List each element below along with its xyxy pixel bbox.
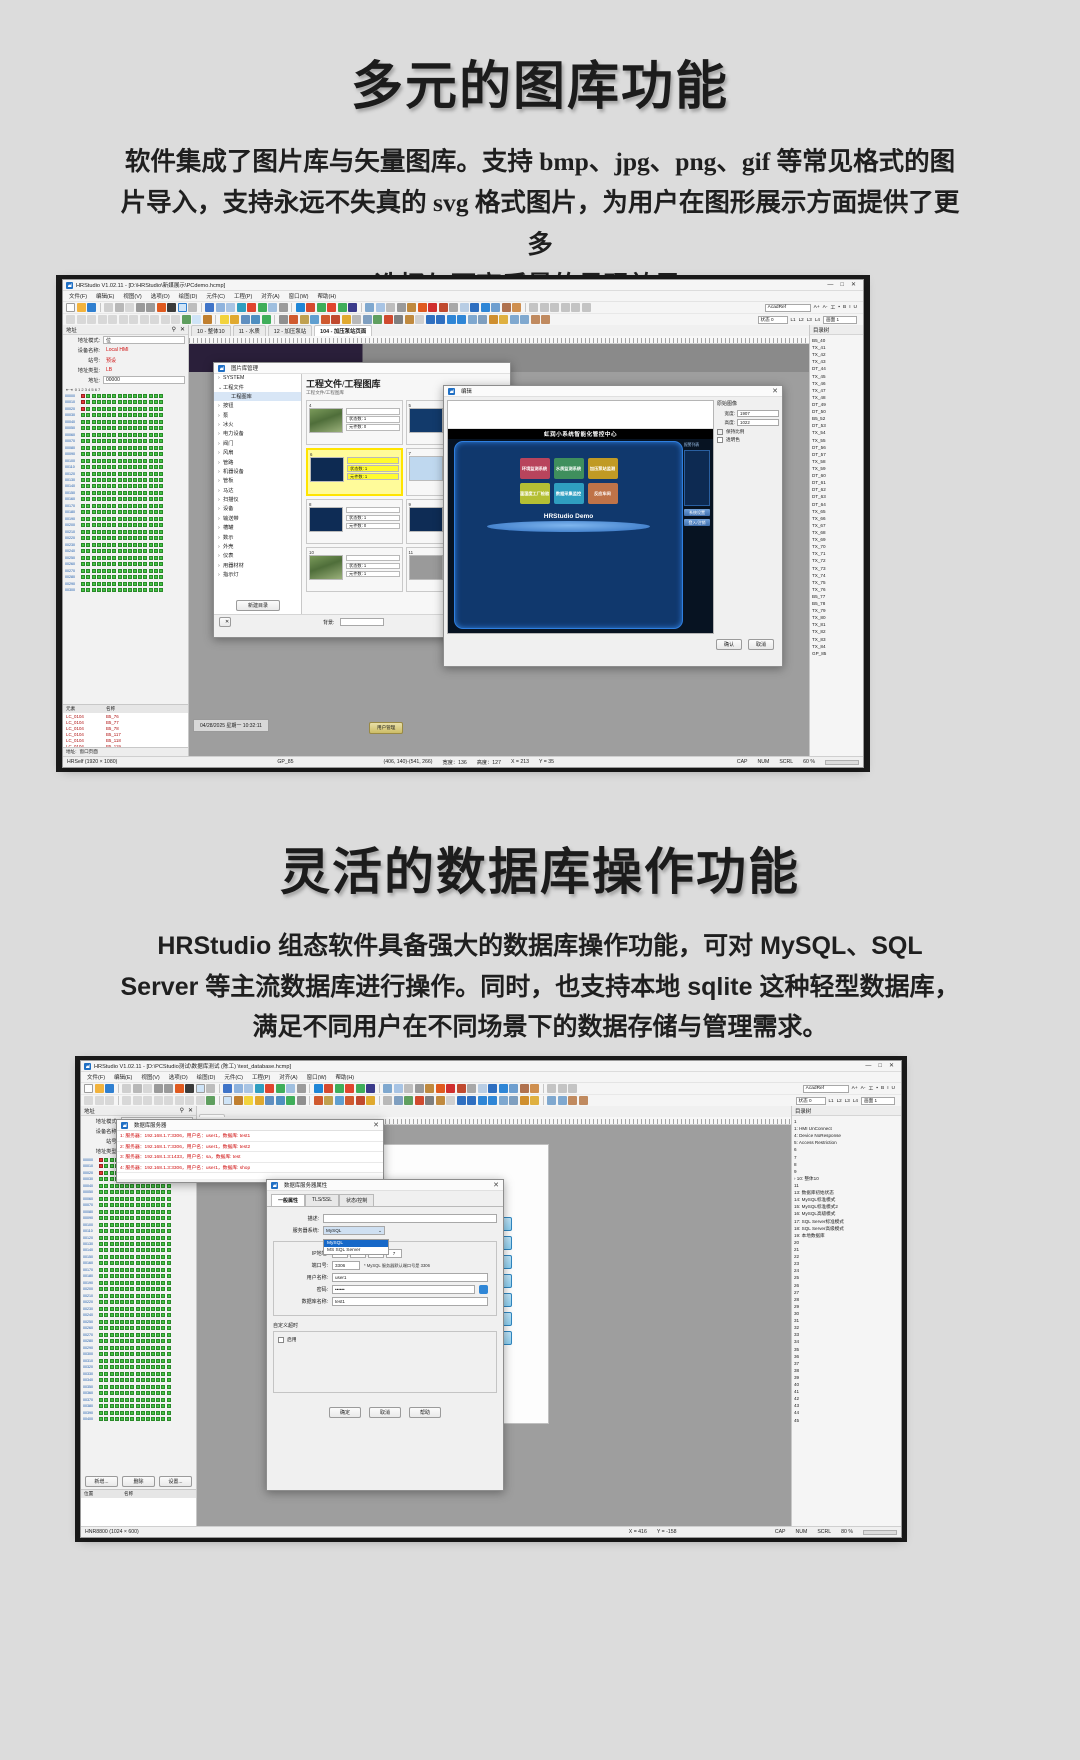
address-bit[interactable] [110,1281,114,1285]
rect-icon[interactable] [140,315,149,324]
address-bit[interactable] [161,1365,165,1369]
address-bit[interactable] [99,1287,103,1291]
element-table[interactable]: LC_0104B5_76LC_0104B5_77LC_0104B5_78LC_0… [63,713,188,747]
address-bit[interactable] [159,517,163,521]
address-row[interactable]: 00280 [65,575,186,580]
app2-object-tree-item[interactable]: 14: MySQL标准模式 [794,1196,899,1203]
address-bit[interactable] [120,1307,124,1311]
address-bit[interactable] [110,1294,114,1298]
address-bit[interactable] [156,1359,160,1363]
edit-note-icon[interactable] [258,303,267,312]
address-bit[interactable] [104,1411,108,1415]
address-bit[interactable] [118,582,122,586]
address-bit[interactable] [125,1210,129,1214]
address-bit[interactable] [125,1236,129,1240]
address-bit[interactable] [99,1216,103,1220]
address-bit[interactable] [146,1307,150,1311]
address-bit[interactable] [141,1359,145,1363]
address-row[interactable]: 00070 [65,438,186,443]
address-bit[interactable] [161,1268,165,1272]
screen-tab-0[interactable]: 10 - 整体10 [191,325,231,336]
toolbar-icon-44[interactable] [579,1096,588,1105]
address-bit[interactable] [102,588,106,592]
address-bit[interactable] [151,1203,155,1207]
address-bit[interactable] [138,472,142,476]
menu-help[interactable]: 帮助(H) [318,292,337,300]
toolbar-icon-31[interactable] [436,1096,445,1105]
app2-object-tree-list[interactable]: 11: HMI UnConnect4: Device NoResponse5: … [792,1116,901,1426]
address-bit[interactable] [159,523,163,527]
address-bit[interactable] [92,439,96,443]
library-tree-item[interactable]: 工程图库 [214,392,301,401]
address-bit[interactable] [143,394,147,398]
address-bit[interactable] [141,1365,145,1369]
address-bit[interactable] [143,413,147,417]
address-bit[interactable] [123,504,127,508]
app2-font-increase-button[interactable]: A+ [852,1086,858,1091]
address-bit[interactable] [143,472,147,476]
address-bit[interactable] [120,1274,124,1278]
ascii-icon[interactable] [251,315,260,324]
address-bit[interactable] [130,1190,134,1194]
address-bit[interactable] [136,1339,140,1343]
address-bit[interactable] [97,452,101,456]
address-row[interactable]: 00000 [65,393,186,398]
address-bit[interactable] [97,497,101,501]
address-bit[interactable] [125,1365,129,1369]
address-bit[interactable] [86,426,90,430]
address-bit[interactable] [149,543,153,547]
address-bit[interactable] [97,465,101,469]
address-bit[interactable] [154,523,158,527]
address-bit[interactable] [130,1359,134,1363]
library-tree-item[interactable]: ›用器材材 [214,561,301,570]
address-bit[interactable] [107,465,111,469]
address-bit[interactable] [86,439,90,443]
address-bit[interactable] [161,1274,165,1278]
address-bit[interactable] [133,588,137,592]
address-bit[interactable] [141,1210,145,1214]
address-bit[interactable] [99,1365,103,1369]
address-bit[interactable] [161,1261,165,1265]
address-row[interactable]: 00040 [65,419,186,424]
address-bit[interactable] [92,523,96,527]
address-bit[interactable] [133,420,137,424]
menu-file[interactable]: 文件(F) [69,292,87,300]
library-tree-item[interactable]: ›电力设备 [214,429,301,438]
panel-close-icon[interactable]: ✕ [180,326,185,333]
library-card[interactable]: 4状态数: 1元件数: 0 [306,400,403,445]
address-bit[interactable] [130,1313,134,1317]
address-bit[interactable] [112,426,116,430]
db-props-tabs[interactable]: 一般属性 TLS/SSL 状态/控制 [267,1194,503,1207]
address-bit[interactable] [110,1333,114,1337]
address-row[interactable]: 00060 [65,432,186,437]
address-bit[interactable] [156,1242,160,1246]
object-tree-item[interactable]: TX_81 [812,621,861,628]
address-bit[interactable] [81,420,85,424]
address-bit[interactable] [136,1287,140,1291]
address-bit[interactable] [99,1177,103,1181]
toolbar-icon-10[interactable] [196,1084,205,1093]
address-bit[interactable] [136,1417,140,1421]
address-bit[interactable] [104,1326,108,1330]
address-bit[interactable] [125,1229,129,1233]
address-bit[interactable] [120,1333,124,1337]
toolbar-icon-10[interactable] [196,1096,205,1105]
address-bit[interactable] [123,543,127,547]
address-bit[interactable] [123,472,127,476]
address-bit[interactable] [138,465,142,469]
address-bit[interactable] [159,556,163,560]
address-bit[interactable] [146,1411,150,1415]
address-bit[interactable] [146,1210,150,1214]
address-bit[interactable] [99,1210,103,1214]
address-bit[interactable] [99,1281,103,1285]
library-card-thumbnail[interactable] [309,507,343,532]
address-bit[interactable] [159,407,163,411]
address-bit[interactable] [92,497,96,501]
address-bit[interactable] [167,1385,171,1389]
address-bit[interactable] [86,562,90,566]
address-bit[interactable] [161,1203,165,1207]
address-bit[interactable] [92,465,96,469]
app2-object-tree-item[interactable]: 8 [794,1161,899,1168]
address-bit[interactable] [115,1197,119,1201]
address-bit[interactable] [167,1287,171,1291]
toolbar-icon-12[interactable] [223,1096,232,1105]
address-bit[interactable] [136,1184,140,1188]
copy2-icon[interactable] [510,315,519,324]
address-bit[interactable] [128,523,132,527]
address-bit[interactable] [161,1372,165,1376]
frame-icon[interactable] [192,315,201,324]
address-bit[interactable] [154,549,158,553]
address-bit[interactable] [149,394,153,398]
address-bit[interactable] [92,478,96,482]
toolbar-icon-38[interactable] [509,1084,518,1093]
find-icon[interactable] [167,303,176,312]
address-bit[interactable] [104,1359,108,1363]
address-bit[interactable] [156,1203,160,1207]
address-bit[interactable] [125,1320,129,1324]
address-bit[interactable] [167,1248,171,1252]
xy-icon[interactable] [373,315,382,324]
object-tree-item[interactable]: TX_72 [812,557,861,564]
address-bit[interactable] [159,465,163,469]
address-bit[interactable] [143,407,147,411]
layer-l2-button[interactable]: L2 [799,317,804,322]
address-bit[interactable] [130,1320,134,1324]
address-bit[interactable] [99,1320,103,1324]
app2-object-tree-item[interactable]: 21 [794,1246,899,1253]
address-bit[interactable] [156,1411,160,1415]
toolbar-icon-41[interactable] [547,1084,556,1093]
address-bit[interactable] [123,478,127,482]
address-row[interactable]: 00180 [83,1274,194,1279]
address-bit[interactable] [120,1248,124,1252]
library-card-name-input[interactable] [346,555,400,562]
address-bit[interactable] [110,1210,114,1214]
download-icon[interactable] [338,303,347,312]
address-bit[interactable] [118,497,122,501]
address-bit[interactable] [146,1352,150,1356]
address-bit[interactable] [110,1223,114,1227]
app2-menu-draw[interactable]: 绘图(D) [197,1073,216,1081]
library-tree-item[interactable]: ›风扇 [214,448,301,457]
address-bit[interactable] [141,1391,145,1395]
address-bit[interactable] [156,1333,160,1337]
list-icon[interactable] [310,315,319,324]
hmi-tile[interactable]: 数据采集监控 [554,483,584,504]
library-tree-item[interactable]: ›槽罐 [214,523,301,532]
address-bit[interactable] [102,556,106,560]
address-bit[interactable] [115,1242,119,1246]
address-bit[interactable] [151,1372,155,1376]
address-bit[interactable] [110,1372,114,1376]
address-bit[interactable] [110,1274,114,1278]
library-tree-item[interactable]: ›输送带 [214,514,301,523]
address-row[interactable]: 00340 [83,1377,194,1382]
db-help-button[interactable]: 帮助 [409,1407,441,1418]
address-bit[interactable] [159,478,163,482]
address-bit[interactable] [151,1300,155,1304]
address-bit[interactable] [136,1326,140,1330]
address-bit[interactable] [125,1417,129,1421]
address-row[interactable]: 00100 [65,458,186,463]
address-bit[interactable] [115,1359,119,1363]
address-bit[interactable] [167,1242,171,1246]
address-bit[interactable] [97,413,101,417]
arrow-left-icon[interactable] [327,303,336,312]
toolbar-icon-24[interactable] [356,1084,365,1093]
address-bit[interactable] [133,569,137,573]
address-bit[interactable] [115,1346,119,1350]
address-bit[interactable] [104,1268,108,1272]
address-bit[interactable] [97,588,101,592]
address-bit[interactable] [136,1274,140,1278]
menu-options[interactable]: 选项(O) [151,292,170,300]
address-bit[interactable] [138,504,142,508]
address-bit[interactable] [112,556,116,560]
address-bit[interactable] [159,472,163,476]
address-bit[interactable] [167,1339,171,1343]
address-bit[interactable] [156,1268,160,1272]
address-bit[interactable] [120,1417,124,1421]
address-bit[interactable] [143,549,147,553]
address-bit[interactable] [141,1346,145,1350]
address-bit[interactable] [123,575,127,579]
address-bit[interactable] [110,1417,114,1421]
address-bit[interactable] [143,459,147,463]
address-bit[interactable] [110,1268,114,1272]
address-bit[interactable] [99,1171,103,1175]
address-bit[interactable] [136,1385,140,1389]
address-bit[interactable] [118,433,122,437]
address-row[interactable]: 00130 [83,1241,194,1246]
app2-object-tree-item[interactable]: 4: Device NoResponse [794,1132,899,1139]
address-bit[interactable] [115,1326,119,1330]
address-bit[interactable] [154,504,158,508]
address-bit[interactable] [159,497,163,501]
address-bit[interactable] [99,1261,103,1265]
address-row[interactable]: 00130 [65,477,186,482]
export-icon[interactable] [541,315,550,324]
library-card-thumbnail[interactable] [310,457,344,482]
address-bit[interactable] [143,523,147,527]
address-bit[interactable] [125,1255,129,1259]
address-bit[interactable] [130,1236,134,1240]
address-bit[interactable] [136,1190,140,1194]
toolbar-icon-37[interactable] [499,1084,508,1093]
address-bit[interactable] [141,1248,145,1252]
address-bit[interactable] [149,452,153,456]
address-bit[interactable] [118,426,122,430]
address-bit[interactable] [104,1300,108,1304]
address-row[interactable]: 00160 [83,1261,194,1266]
address-bit[interactable] [130,1223,134,1227]
address-bit[interactable] [110,1320,114,1324]
hmi-tile[interactable]: 水质监测系统 [554,458,584,479]
address-bit[interactable] [110,1164,114,1168]
layer-l3-button[interactable]: L3 [807,317,812,322]
address-bit[interactable] [151,1197,155,1201]
object-tree-item[interactable]: DT_57 [812,451,861,458]
edit-dialog-close-icon[interactable]: ✕ [772,388,778,395]
toolbar-icon-16[interactable] [265,1096,274,1105]
address-bit[interactable] [107,413,111,417]
address-bit[interactable] [125,1385,129,1389]
address-bit[interactable] [161,1255,165,1259]
app2-object-tree-item[interactable]: 27 [794,1289,899,1296]
delete-address-button[interactable]: 删除 [122,1476,155,1487]
address-bit[interactable] [156,1417,160,1421]
keep-ratio-row[interactable]: 保持比例 [717,429,779,435]
address-bit[interactable] [149,472,153,476]
address-bit[interactable] [92,549,96,553]
address-bit[interactable] [151,1365,155,1369]
address-bit[interactable] [167,1372,171,1376]
address-row[interactable]: 00260 [83,1326,194,1331]
address-bit[interactable] [120,1352,124,1356]
address-bit[interactable] [138,394,142,398]
address-bit[interactable] [151,1294,155,1298]
address-bit[interactable] [120,1320,124,1324]
curve-icon[interactable] [87,315,96,324]
address-bit[interactable] [143,510,147,514]
copy-icon[interactable] [125,303,134,312]
address-bit[interactable] [136,1281,140,1285]
address-bit[interactable] [130,1404,134,1408]
package-icon[interactable] [407,303,416,312]
save-icon[interactable] [87,303,96,312]
app2-object-tree-item[interactable]: 23 [794,1260,899,1267]
address-bit[interactable] [141,1190,145,1194]
address-bit[interactable] [154,472,158,476]
arrow-right-icon[interactable] [317,303,326,312]
address-bit[interactable] [81,556,85,560]
address-bit[interactable] [159,439,163,443]
address-bit[interactable] [81,517,85,521]
address-bit[interactable] [133,517,137,521]
address-bit[interactable] [161,1190,165,1194]
address-bit[interactable] [118,536,122,540]
address-bit[interactable] [115,1210,119,1214]
app2-maximize-icon[interactable]: □ [878,1063,882,1069]
hmi-module-tiles[interactable]: 环境监测系统水质监测系统加压泵站监测温湿度工厂检验数据采集监控反应车间 [455,442,682,504]
compile-icon[interactable] [376,303,385,312]
address-bit[interactable] [115,1268,119,1272]
address-bit[interactable] [161,1242,165,1246]
image-preview-area[interactable]: 虹润小系统智能化管控中心 湿度 温度 氧气 CO2 PM2.5 [447,400,714,634]
object-tree-item[interactable]: TX_84 [812,643,861,650]
address-bit[interactable] [120,1346,124,1350]
address-bit[interactable] [118,543,122,547]
address-bit[interactable] [97,569,101,573]
description-input[interactable] [323,1214,497,1223]
panel-pin-icon[interactable]: ⚲ [172,326,176,333]
library-tree[interactable]: ›SYSTEM⌄工程文件工程图库›按钮›泵›冰火›电力设备›阀门›风扇›管路›机… [214,374,301,590]
address-bit[interactable] [130,1210,134,1214]
address-bit[interactable] [81,433,85,437]
address-bit[interactable] [143,575,147,579]
tab-general[interactable]: 一般属性 [271,1194,305,1206]
address-bit[interactable] [123,426,127,430]
address-bit[interactable] [136,1372,140,1376]
address-bit[interactable] [99,1158,103,1162]
address-bit[interactable] [118,588,122,592]
address-bit[interactable] [156,1346,160,1350]
address-bit[interactable] [161,1326,165,1330]
address-bit[interactable] [128,504,132,508]
address-bit[interactable] [104,1158,108,1162]
address-bit[interactable] [146,1223,150,1227]
address-bit[interactable] [156,1255,160,1259]
address-bit[interactable] [115,1333,119,1337]
toolbar-icon-0[interactable] [84,1084,93,1093]
address-bit[interactable] [97,433,101,437]
toolbar-icon-4[interactable] [133,1084,142,1093]
library-card-thumbnail[interactable] [409,555,443,580]
object-tree-item[interactable]: TX_67 [812,522,861,529]
address-bit[interactable] [154,420,158,424]
address-bit[interactable] [99,1398,103,1402]
address-bit[interactable] [159,446,163,450]
address-bit[interactable] [120,1236,124,1240]
arc-icon[interactable] [98,315,107,324]
address-bit[interactable] [143,433,147,437]
keyboard-icon[interactable] [321,315,330,324]
address-bit[interactable] [138,556,142,560]
address-bit[interactable] [141,1300,145,1304]
app2-layer-l3-button[interactable]: L3 [845,1098,850,1103]
app2-object-tree-item[interactable]: 31 [794,1317,899,1324]
address-bit[interactable] [151,1385,155,1389]
address-bit[interactable] [115,1372,119,1376]
address-bit[interactable] [112,549,116,553]
address-bit[interactable] [112,575,116,579]
address-bit[interactable] [97,582,101,586]
address-bit[interactable] [104,1404,108,1408]
address-bit[interactable] [138,543,142,547]
address-row[interactable]: 00230 [65,542,186,547]
address-bit[interactable] [141,1385,145,1389]
object-tree-item[interactable]: TX_73 [812,565,861,572]
address-bit[interactable] [120,1365,124,1369]
app2-minimize-icon[interactable]: — [865,1063,871,1069]
toolbar-icon-8[interactable] [175,1084,184,1093]
address-bit[interactable] [151,1320,155,1324]
